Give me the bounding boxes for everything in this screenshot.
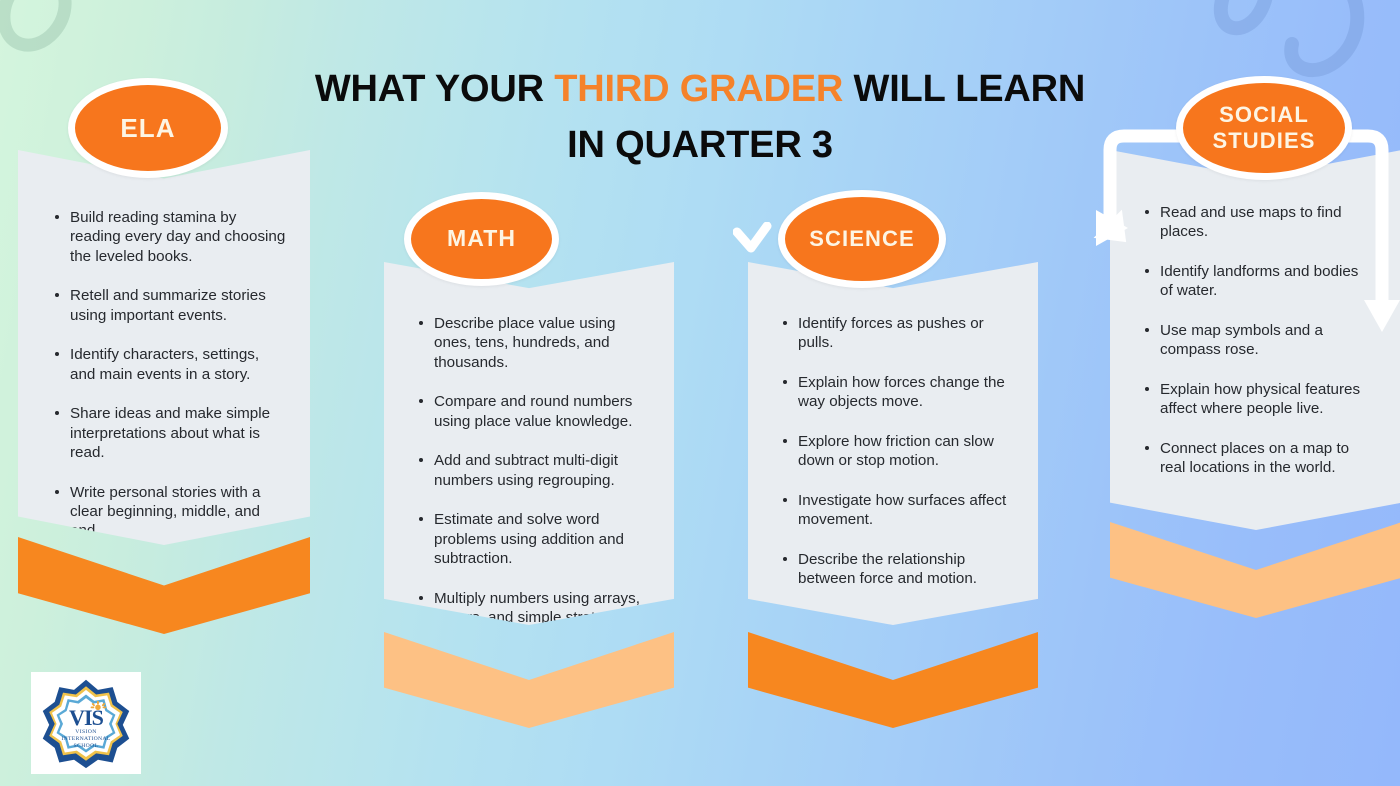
chevron-math <box>384 632 674 728</box>
list-item: Write personal stories with a clear begi… <box>52 483 288 541</box>
column-math: Describe place value using ones, tens, h… <box>384 262 674 625</box>
list-item: Explain how physical features affect whe… <box>1142 380 1372 419</box>
vis-logo-icon: VIS VISION INTERNATIONAL SCHOOL <box>38 677 134 769</box>
list-item: Investigate how surfaces affect movement… <box>780 491 1016 530</box>
list-item: Identify forces as pushes or pulls. <box>780 314 1016 353</box>
list-item: Compare and round numbers using place va… <box>416 392 652 431</box>
list-item: Explore how friction can slow down or st… <box>780 432 1016 471</box>
column-social-studies: Read and use maps to find places. Identi… <box>1110 150 1400 530</box>
subject-badge-math[interactable]: MATH <box>404 192 559 286</box>
page-title: WHAT YOUR THIRD GRADER WILL LEARN IN QUA… <box>0 62 1400 174</box>
logo-line-3: SCHOOL <box>74 743 99 749</box>
list-item: Describe place value using ones, tens, h… <box>416 314 652 372</box>
list-item: Build reading stamina by reading every d… <box>52 208 288 266</box>
card-math: Describe place value using ones, tens, h… <box>384 262 674 625</box>
title-line-2: IN QUARTER 3 <box>0 118 1400 174</box>
title-part-before: WHAT YOUR <box>315 68 554 110</box>
bullet-list-ela: Build reading stamina by reading every d… <box>18 150 310 541</box>
subject-badge-label: MATH <box>447 225 516 252</box>
bullet-list-science: Identify forces as pushes or pulls. Expl… <box>748 262 1038 589</box>
title-part-accent: THIRD GRADER <box>554 68 843 110</box>
chevron-ela <box>18 537 310 634</box>
bullet-list-math: Describe place value using ones, tens, h… <box>384 262 674 627</box>
list-item: Multiply numbers using arrays, factors, … <box>416 589 652 628</box>
list-item: Use map symbols and a compass rose. <box>1142 321 1372 360</box>
list-item: Identify landforms and bodies of water. <box>1142 262 1372 301</box>
title-part-after: WILL LEARN <box>843 68 1085 110</box>
card-social-studies: Read and use maps to find places. Identi… <box>1110 150 1400 530</box>
column-science: Identify forces as pushes or pulls. Expl… <box>748 262 1038 625</box>
chevron-social-studies <box>1110 522 1400 618</box>
bullet-list-social-studies: Read and use maps to find places. Identi… <box>1110 150 1400 478</box>
list-item: Share ideas and make simple interpretati… <box>52 404 288 462</box>
list-item: Identify characters, settings, and main … <box>52 345 288 384</box>
title-line-1: WHAT YOUR THIRD GRADER WILL LEARN <box>0 62 1400 118</box>
card-ela: Build reading stamina by reading every d… <box>18 150 310 545</box>
column-ela: Build reading stamina by reading every d… <box>18 150 310 545</box>
infographic-poster: WHAT YOUR THIRD GRADER WILL LEARN IN QUA… <box>0 0 1400 786</box>
list-item: Explain how forces change the way object… <box>780 373 1016 412</box>
svg-text:VIS: VIS <box>69 705 104 730</box>
list-item: Describe the relationship between force … <box>780 550 1016 589</box>
list-item: Connect places on a map to real location… <box>1142 439 1372 478</box>
subject-badge-label: SCIENCE <box>809 226 915 252</box>
list-item: Retell and summarize stories using impor… <box>52 286 288 325</box>
subject-badge-science[interactable]: SCIENCE <box>778 190 946 288</box>
list-item: Add and subtract multi-digit numbers usi… <box>416 451 652 490</box>
card-science: Identify forces as pushes or pulls. Expl… <box>748 262 1038 625</box>
school-logo: VIS VISION INTERNATIONAL SCHOOL <box>31 672 141 774</box>
list-item: Read and use maps to find places. <box>1142 203 1372 242</box>
list-item: Estimate and solve word problems using a… <box>416 510 652 568</box>
logo-line-1: VISION <box>75 729 96 735</box>
check-mark-decoration <box>733 222 773 262</box>
logo-line-2: INTERNATIONAL <box>61 736 110 742</box>
chevron-science <box>748 632 1038 728</box>
